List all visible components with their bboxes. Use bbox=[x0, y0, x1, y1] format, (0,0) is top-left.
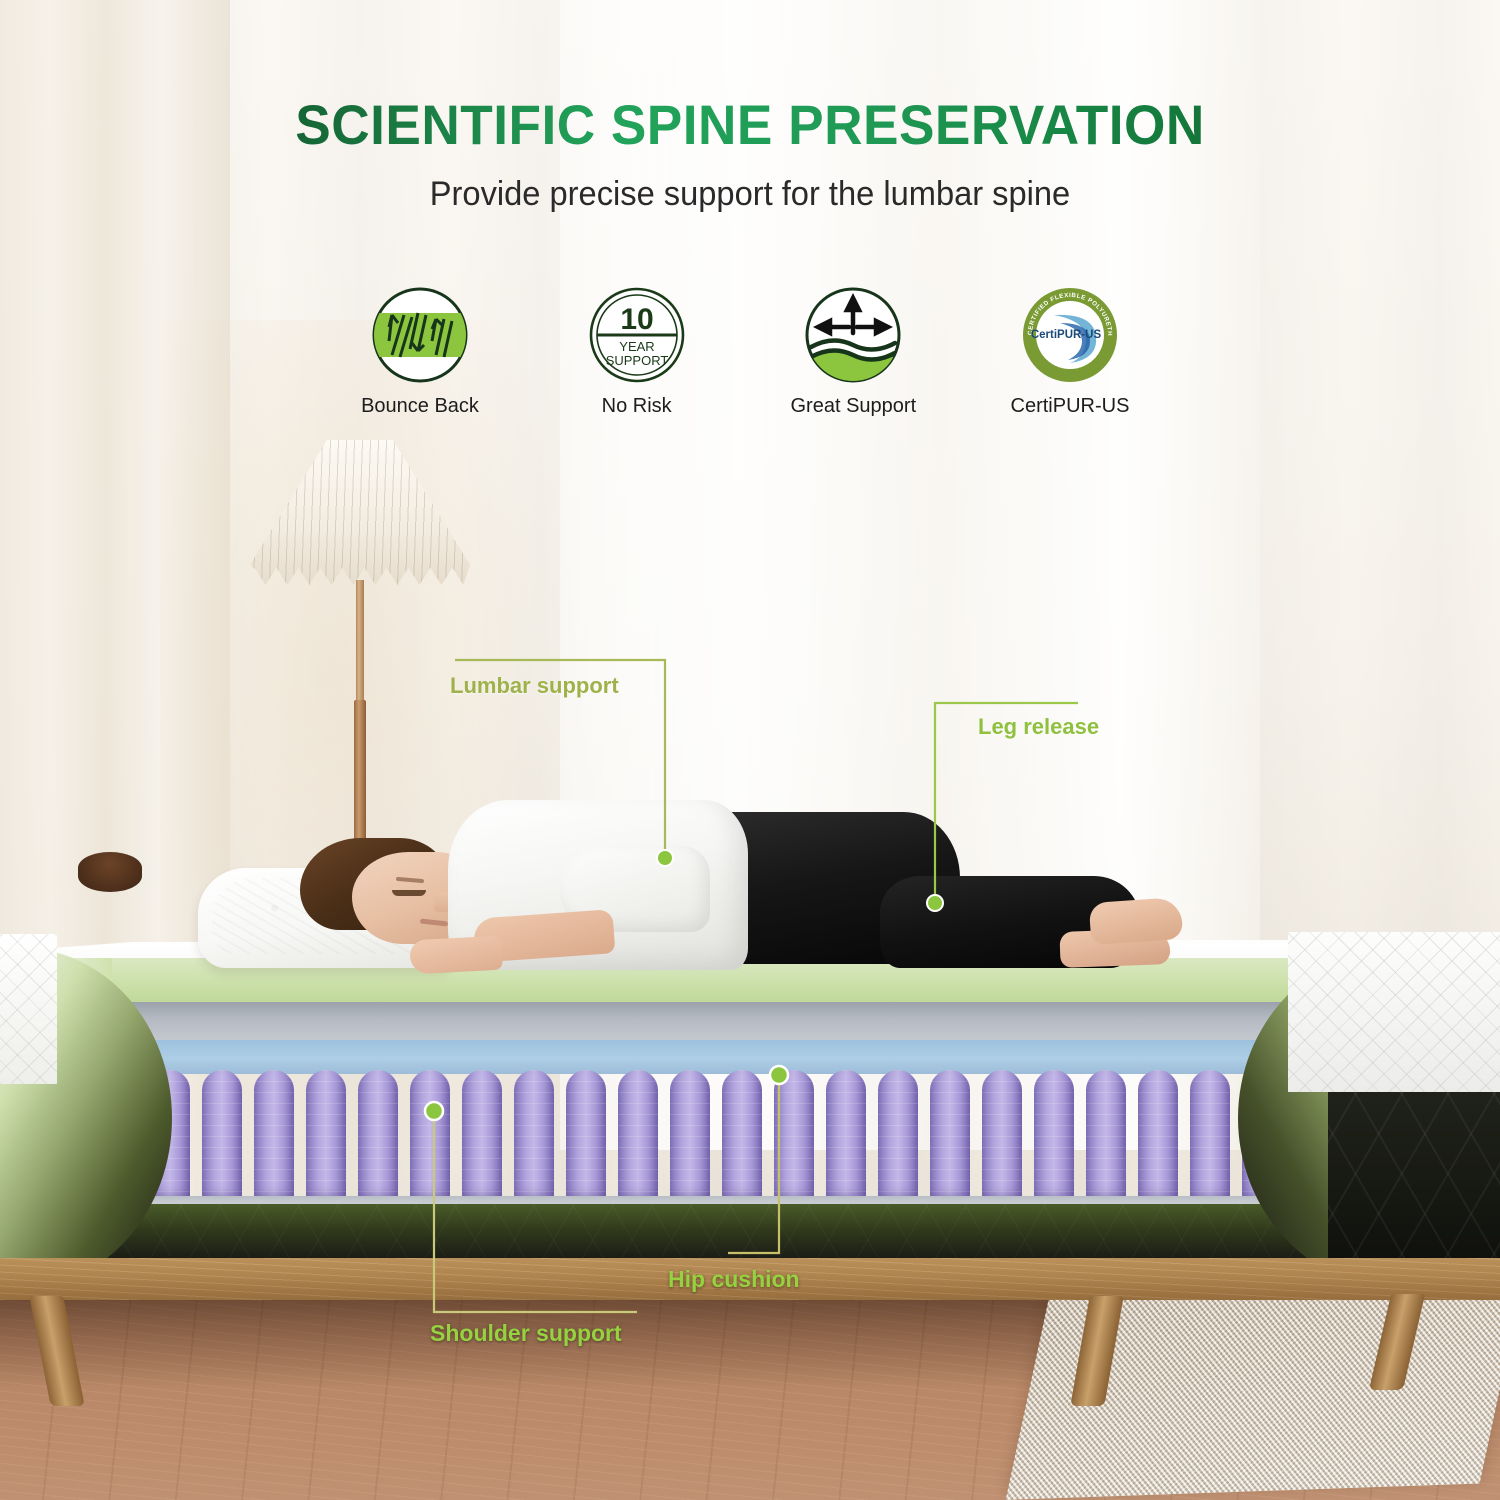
hand bbox=[409, 936, 503, 975]
badge-no-risk: 10 YEAR SUPPORT No Risk bbox=[557, 285, 717, 418]
product-infographic: SCIENTIFIC SPINE PRESERVATION Provide pr… bbox=[0, 0, 1500, 1500]
certipur-us-seal-icon: CONTAINS CERTIFIED FLEXIBLE POLYURETHANE… bbox=[1020, 285, 1120, 385]
bounce-back-arrows-icon bbox=[370, 285, 470, 385]
callout-shoulder-support: Shoulder support bbox=[430, 1320, 622, 1347]
cutaway-right-cover bbox=[1288, 932, 1500, 1092]
lamp-base bbox=[78, 852, 142, 892]
badge-label: Great Support bbox=[791, 395, 917, 418]
badge-label: Bounce Back bbox=[361, 395, 479, 418]
badge-certipur-us: CONTAINS CERTIFIED FLEXIBLE POLYURETHANE… bbox=[990, 285, 1150, 418]
lamp-shade bbox=[250, 440, 470, 585]
pocket-coil bbox=[878, 1070, 918, 1200]
support-arrows-waves-icon bbox=[803, 285, 903, 385]
pocket-coil bbox=[306, 1070, 346, 1200]
pocket-coil bbox=[462, 1070, 502, 1200]
pocket-coil bbox=[774, 1070, 814, 1200]
pocket-coil bbox=[410, 1070, 450, 1200]
header: SCIENTIFIC SPINE PRESERVATION Provide pr… bbox=[0, 92, 1500, 214]
closed-eye bbox=[392, 890, 426, 896]
page-subtitle: Provide precise support for the lumbar s… bbox=[30, 175, 1470, 214]
page-title: SCIENTIFIC SPINE PRESERVATION bbox=[38, 92, 1463, 157]
pocket-coil bbox=[566, 1070, 606, 1200]
svg-text:YEAR: YEAR bbox=[619, 339, 654, 354]
pocket-coil bbox=[1190, 1070, 1230, 1200]
badge-bounce-back: Bounce Back bbox=[340, 285, 500, 418]
badge-great-support: Great Support bbox=[773, 285, 933, 418]
pocket-coil bbox=[358, 1070, 398, 1200]
ten-year-support-seal-icon: 10 YEAR SUPPORT bbox=[587, 285, 687, 385]
feature-badge-row: Bounce Back 10 YEAR SUPPORT No Risk bbox=[340, 285, 1150, 418]
pocket-coil bbox=[722, 1070, 762, 1200]
badge-label: No Risk bbox=[602, 395, 672, 418]
svg-text:CertiPUR-US: CertiPUR-US bbox=[1031, 329, 1102, 341]
cutaway-left-cover bbox=[0, 934, 57, 1084]
pocket-coil bbox=[618, 1070, 658, 1200]
callout-leg-release: Leg release bbox=[978, 714, 1099, 740]
callout-hip-cushion: Hip cushion bbox=[668, 1266, 800, 1293]
foot-front bbox=[1089, 897, 1184, 945]
svg-text:10: 10 bbox=[620, 303, 653, 336]
callout-lumbar-support: Lumbar support bbox=[450, 673, 619, 699]
pocket-coil bbox=[930, 1070, 970, 1200]
pocket-coil bbox=[1034, 1070, 1074, 1200]
svg-text:SUPPORT: SUPPORT bbox=[605, 353, 668, 368]
pocket-coil bbox=[826, 1070, 866, 1200]
badge-label: CertiPUR-US bbox=[1011, 395, 1130, 418]
pocket-coil bbox=[982, 1070, 1022, 1200]
pocket-coil bbox=[254, 1070, 294, 1200]
pocket-coil bbox=[1138, 1070, 1178, 1200]
mattress-cross-section bbox=[0, 940, 1500, 1260]
pocket-coil bbox=[202, 1070, 242, 1200]
pocket-coil bbox=[514, 1070, 554, 1200]
pocket-coil bbox=[670, 1070, 710, 1200]
pocket-coil bbox=[1086, 1070, 1126, 1200]
